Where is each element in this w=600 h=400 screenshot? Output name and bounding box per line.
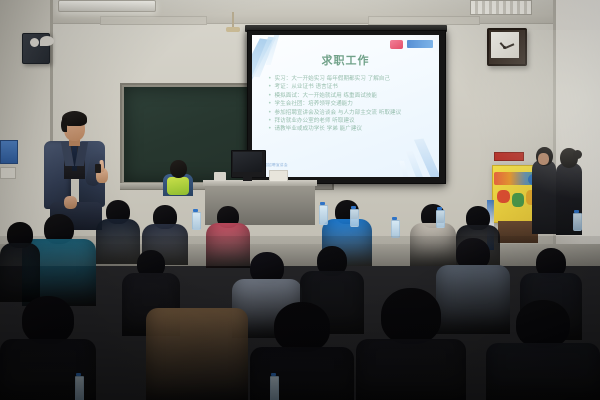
slide-bullet-3: •模拟面试：大一开始就试用 练重面试技能 — [268, 92, 433, 100]
student-front-long-hair-head — [381, 288, 441, 344]
fluorescent-light-icon — [58, 0, 156, 12]
water-bottle-8 — [573, 213, 582, 231]
fluorescent-light-icon-2 — [470, 0, 532, 15]
wall-sign-blue — [0, 140, 18, 164]
wall-panel-seam-right — [368, 16, 480, 25]
water-bottle-4-cap-icon — [437, 207, 442, 210]
water-bottle-7-cap-icon — [76, 373, 81, 376]
slide-logo-red-icon — [390, 40, 403, 49]
student-front-right-torso — [486, 343, 600, 400]
bullet-dot-icon: • — [268, 100, 272, 108]
slide-bullet-7: •请教毕业或成功学长 学弟 能广建议 — [268, 125, 433, 133]
standing-person-1-face — [538, 153, 549, 165]
bullet-dot-icon: • — [268, 75, 272, 83]
slide-bullet-text: 参加招聘宣讲会及洽谈会 与人力部主交流 听取建议 — [275, 109, 402, 117]
slide-bullet-text: 考证：从业证书 语言证书 — [275, 83, 338, 91]
slide-bullet-6: •拜访就业办公室的老师 听取建议 — [268, 117, 433, 125]
bullet-dot-icon: • — [268, 109, 272, 117]
water-bottle-5-cap-icon — [193, 209, 198, 212]
slide-decor-stripe-6 — [399, 161, 410, 177]
slide-bullet-text: 请教毕业或成功学长 学弟 能广建议 — [275, 125, 362, 133]
student-dark-left — [0, 222, 40, 302]
water-bottle-2 — [350, 209, 359, 227]
poster-red-tag — [494, 152, 524, 161]
wall-panel-seam-left — [100, 16, 207, 25]
standing-person-1-body — [532, 160, 556, 234]
slide-bullet-text: 模拟面试：大一开始就试用 练重面试技能 — [275, 92, 377, 100]
presenter-lower-hand — [64, 196, 77, 209]
desk-object — [214, 172, 226, 181]
bullet-dot-icon: • — [268, 92, 272, 100]
student-front-right-head — [516, 300, 570, 348]
student-tan-fur-coat-torso — [146, 308, 248, 400]
poster-graphic-2 — [512, 193, 524, 207]
bullet-dot-icon: • — [268, 125, 272, 133]
slide-bullet-5: •参加招聘宣讲会及洽谈会 与人力部主交流 听取建议 — [268, 109, 433, 117]
student-front-long-hair-torso — [356, 339, 466, 400]
student-front-black-2-head — [274, 302, 330, 352]
slide-bullet-text: 拜访就业办公室的老师 听取建议 — [275, 117, 355, 125]
water-bottle-6-cap-icon — [271, 373, 276, 376]
water-bottle-1-cap-icon — [320, 202, 325, 205]
clock-face — [491, 32, 519, 58]
presenter-pointer-icon — [95, 164, 101, 173]
slide-bullet-2: •考证：从业证书 语言证书 — [268, 83, 433, 91]
water-bottle-2-cap-icon — [351, 206, 356, 209]
water-bottle-3-cap-icon — [392, 217, 397, 220]
classroom-lecture-photo: 求职工作 •实习：大一开始实习 每年假期都实习 了解自己•考证：从业证书 语言证… — [0, 0, 600, 400]
student-front-black-1-head — [22, 296, 74, 344]
standing-person-2-hairbun — [573, 150, 582, 159]
monitor-stand — [243, 176, 252, 181]
water-bottle-4 — [436, 210, 445, 228]
presenter-hair-side — [61, 118, 67, 132]
student-front-right — [486, 300, 600, 400]
slide-logo-blue-icon — [407, 40, 433, 48]
presentation-slide: 求职工作 •实习：大一开始实习 每年假期都实习 了解自己•考证：从业证书 语言证… — [252, 35, 439, 177]
pendant-head — [226, 27, 240, 32]
student-front-black-2 — [250, 302, 354, 400]
student-front-black-2-torso — [250, 347, 354, 400]
assistant-green-vest — [167, 177, 189, 195]
monitor-screen — [233, 152, 262, 172]
slide-bullet-text: 实习：大一开始实习 每年假期都实习 了解自己 — [275, 75, 390, 83]
slide-bullet-text: 学生会社团：培养领导交通能力 — [275, 100, 353, 108]
pendant-rod — [232, 12, 234, 28]
water-bottle-7 — [75, 376, 84, 400]
wall-sign-white — [0, 167, 16, 179]
water-bottle-6 — [270, 376, 279, 400]
slide-bullet-4: •学生会社团：培养领导交通能力 — [268, 100, 433, 108]
slide-title: 求职工作 — [252, 52, 439, 68]
desk-papers — [269, 170, 288, 182]
student-front-long-hair — [356, 288, 466, 400]
clock-center-pin — [503, 46, 506, 49]
poster-graphic-1 — [497, 190, 510, 203]
speaker-mount-arm — [40, 36, 54, 46]
slide-bullet-1: •实习：大一开始实习 每年假期都实习 了解自己 — [268, 75, 433, 83]
bullet-dot-icon: • — [268, 83, 272, 91]
assistant-head — [170, 160, 187, 178]
water-bottle-1 — [319, 205, 328, 225]
slide-bullet-list: •实习：大一开始实习 每年假期都实习 了解自己•考证：从业证书 语言证书•模拟面… — [268, 75, 433, 134]
water-bottle-5 — [192, 212, 201, 230]
student-dark-left-torso — [0, 243, 40, 302]
water-bottle-3 — [391, 220, 400, 238]
student-tan-fur-coat — [146, 308, 248, 400]
water-bottle-8-cap-icon — [574, 210, 579, 213]
bullet-dot-icon: • — [268, 117, 272, 125]
speaker-lens-icon — [30, 38, 39, 47]
